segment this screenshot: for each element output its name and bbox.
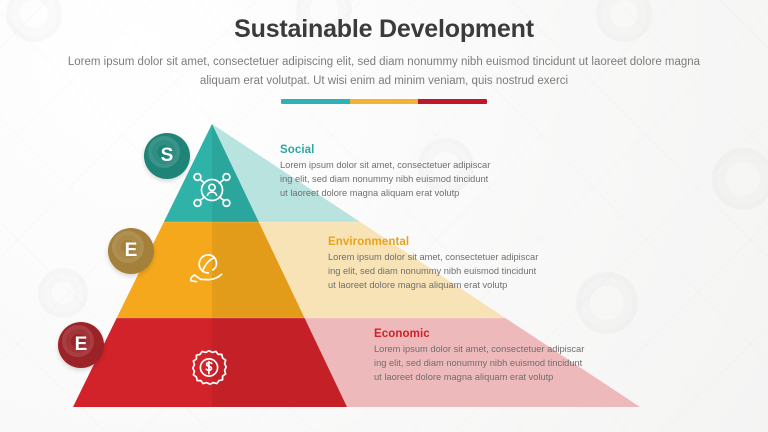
section-body-social: Lorem ipsum dolor sit amet, consectetuer… (280, 159, 530, 200)
body-line: Lorem ipsum dolor sit amet, consectetuer… (280, 159, 530, 173)
body-line: ut laoreet dolore magna aliquam erat vol… (328, 279, 578, 293)
body-line: Lorem ipsum dolor sit amet, consectetuer… (374, 343, 624, 357)
section-body-economic: Lorem ipsum dolor sit amet, consectetuer… (374, 343, 624, 384)
section-body-environmental: Lorem ipsum dolor sit amet, consectetuer… (328, 251, 578, 292)
badge-social-letter: S (161, 145, 174, 167)
section-block-environmental: Environmental Lorem ipsum dolor sit amet… (328, 236, 578, 292)
badge-social[interactable]: S (144, 133, 190, 179)
body-line: ut laoreet dolore magna aliquam erat vol… (280, 187, 530, 201)
page-title: Sustainable Development (0, 14, 768, 44)
body-line: ing elit, sed diam nonummy nibh euismod … (328, 265, 578, 279)
body-line: ut laoreet dolore magna aliquam erat vol… (374, 371, 624, 385)
section-title-environmental: Environmental (328, 236, 578, 248)
badge-economic-letter: E (75, 334, 88, 356)
badge-environmental-letter: E (125, 240, 138, 262)
accent-rule-segment-environmental (350, 99, 419, 104)
section-block-economic: Economic Lorem ipsum dolor sit amet, con… (374, 328, 624, 384)
section-title-social: Social (280, 144, 530, 156)
accent-rule-segment-economic (418, 99, 487, 104)
accent-rule-segment-social (281, 99, 350, 104)
badge-environmental[interactable]: E (108, 228, 154, 274)
body-line: ing elit, sed diam nonummy nibh euismod … (280, 173, 530, 187)
page-subtitle: Lorem ipsum dolor sit amet, consectetuer… (54, 53, 714, 90)
body-line: ing elit, sed diam nonummy nibh euismod … (374, 357, 624, 371)
section-title-economic: Economic (374, 328, 624, 340)
header: Sustainable Development Lorem ipsum dolo… (0, 0, 768, 104)
body-line: Lorem ipsum dolor sit amet, consectetuer… (328, 251, 578, 265)
accent-rule (281, 99, 487, 104)
badge-economic[interactable]: E (58, 322, 104, 368)
section-block-social: Social Lorem ipsum dolor sit amet, conse… (280, 144, 530, 200)
